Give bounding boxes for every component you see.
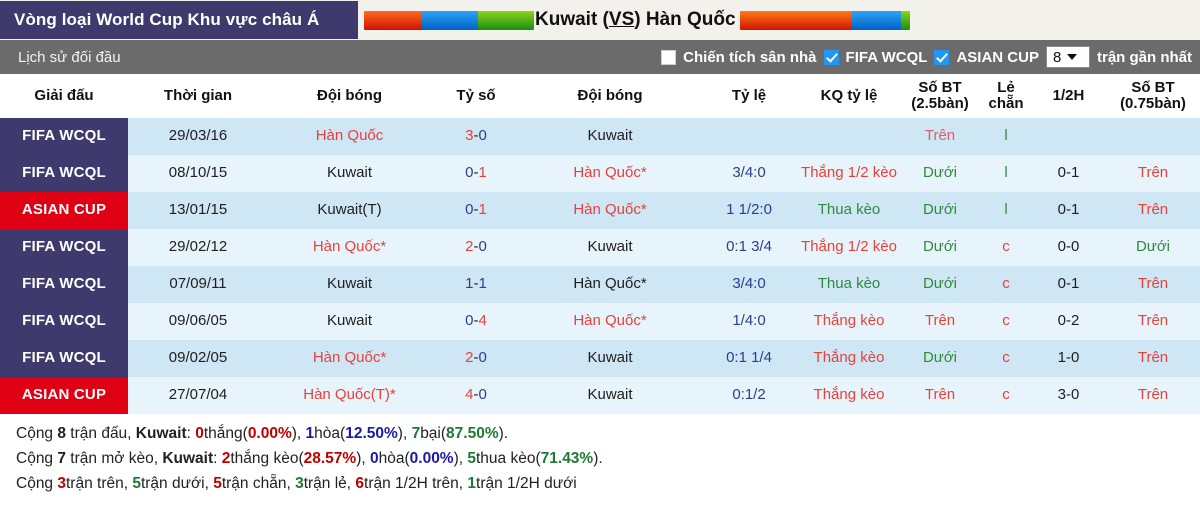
score-away: 4 <box>479 312 487 329</box>
match-count-value: 8 <box>1053 49 1061 66</box>
score-home: 0 <box>465 312 473 329</box>
score-home: 4 <box>465 386 473 403</box>
score-away: 1 <box>479 164 487 181</box>
summary-text: trận mở kèo, <box>66 450 162 467</box>
form-bar-segment-red <box>364 11 422 30</box>
cell-score: 0-4 <box>431 303 521 340</box>
cell-score: 2-0 <box>431 229 521 266</box>
cell-score: 0-1 <box>431 155 521 192</box>
cell-total-075: Trên <box>1106 340 1200 377</box>
table-row[interactable]: FIFA WCQL08/10/15Kuwait0-1Hàn Quốc*3/4:0… <box>0 155 1200 192</box>
cell-odd-even: c <box>981 229 1031 266</box>
cell-home-team: Kuwait <box>268 303 431 340</box>
summary-text: trận trên, <box>66 475 132 492</box>
summary-draws-count: 1 <box>306 425 315 442</box>
summary-text: trận chẵn, <box>222 475 295 492</box>
cell-half-time: 0-1 <box>1031 155 1106 192</box>
cell-odds: 0:1/2 <box>699 377 799 414</box>
cell-odds-result: Thắng kèo <box>799 303 899 340</box>
cell-odd-even: c <box>981 303 1031 340</box>
summary-hcp-draws-pct: 0.00% <box>410 450 454 467</box>
cell-score: 4-0 <box>431 377 521 414</box>
summary-line-total-matches: Cộng 8 trận đấu, Kuwait: 0thắng(0.00%), … <box>16 421 1200 446</box>
score-home: 2 <box>465 238 473 255</box>
cell-odds-result <box>799 118 899 155</box>
summary-wins-pct: 0.00% <box>248 425 292 442</box>
summary-text: bại( <box>420 425 446 442</box>
cell-total-25: Dưới <box>899 340 981 377</box>
summary-text: ), <box>398 425 412 442</box>
table-row[interactable]: FIFA WCQL29/03/16Hàn Quốc3-0KuwaitTrênl <box>0 118 1200 155</box>
cell-total-075: Dưới <box>1106 229 1200 266</box>
column-header-odds-result: KQ tỷ lệ <box>799 74 899 118</box>
summary-text: ). <box>499 425 508 442</box>
cell-odds: 1/4:0 <box>699 303 799 340</box>
cell-date: 09/06/05 <box>128 303 268 340</box>
cell-odds: 3/4:0 <box>699 155 799 192</box>
score-away: 1 <box>479 275 487 292</box>
column-header-score: Tỷ số <box>431 74 521 118</box>
cell-date: 08/10/15 <box>128 155 268 192</box>
table-header-row: Giải đấu Thời gian Đội bóng Tỷ số Đội bó… <box>0 74 1200 118</box>
summary-under-count: 5 <box>132 475 141 492</box>
cell-total-25: Trên <box>899 118 981 155</box>
summary-text: : <box>187 425 196 442</box>
cell-away-team: Kuwait <box>521 229 699 266</box>
summary-losses-pct: 87.50% <box>446 425 499 442</box>
cell-away-team: Kuwait <box>521 118 699 155</box>
head-to-head-table: Giải đấu Thời gian Đội bóng Tỷ số Đội bó… <box>0 74 1200 414</box>
summary-text: : <box>213 450 222 467</box>
cell-odds: 1 1/2:0 <box>699 192 799 229</box>
cell-score: 1-1 <box>431 266 521 303</box>
score-away: 1 <box>479 201 487 218</box>
summary-text: hòa( <box>379 450 410 467</box>
cell-home-team: Kuwait <box>268 266 431 303</box>
cell-half-time: 0-1 <box>1031 192 1106 229</box>
summary-half-under-count: 1 <box>467 475 476 492</box>
cell-odds-result: Thua kèo <box>799 192 899 229</box>
summary-text: ), <box>292 425 306 442</box>
cell-odds-result: Thắng kèo <box>799 377 899 414</box>
cell-date: 13/01/15 <box>128 192 268 229</box>
form-color-bar-away <box>740 11 910 30</box>
cell-total-075 <box>1106 118 1200 155</box>
cell-away-team: Kuwait <box>521 377 699 414</box>
summary-text: trận đấu, <box>66 425 136 442</box>
cell-odds <box>699 118 799 155</box>
column-header-away-team: Đội bóng <box>521 74 699 118</box>
cell-date: 29/03/16 <box>128 118 268 155</box>
summary-even-count: 5 <box>213 475 222 492</box>
head-to-head-page: Vòng loại World Cup Khu vực châu Á Kuwai… <box>0 0 1200 530</box>
summary-over-count: 3 <box>57 475 66 492</box>
cell-odd-even: l <box>981 192 1031 229</box>
cell-score: 3-0 <box>431 118 521 155</box>
recent-matches-label: trận gần nhất <box>1097 49 1192 66</box>
column-header-odds: Tỷ lệ <box>699 74 799 118</box>
home-record-label[interactable]: Chiến tích sân nhà <box>683 49 816 66</box>
summary-text: trận 1/2H trên, <box>364 475 467 492</box>
top-header-bar: Vòng loại World Cup Khu vực châu Á Kuwai… <box>0 0 1200 40</box>
cell-home-team: Kuwait(T) <box>268 192 431 229</box>
cell-total-25: Dưới <box>899 192 981 229</box>
asian-cup-checkbox[interactable] <box>934 50 949 65</box>
cell-half-time: 0-2 <box>1031 303 1106 340</box>
score-home: 1 <box>465 275 473 292</box>
fifa-wcql-checkbox[interactable] <box>824 50 839 65</box>
form-bar-segment-blue <box>852 11 901 30</box>
cell-competition: FIFA WCQL <box>0 266 128 303</box>
summary-total-matches: 8 <box>57 425 66 442</box>
summary-odd-count: 3 <box>295 475 304 492</box>
table-row[interactable]: FIFA WCQL09/06/05Kuwait0-4Hàn Quốc*1/4:0… <box>0 303 1200 340</box>
score-away: 0 <box>479 127 487 144</box>
cell-odd-even: c <box>981 377 1031 414</box>
summary-text: thua kèo( <box>476 450 541 467</box>
cell-date: 09/02/05 <box>128 340 268 377</box>
league-badge-label: Vòng loại World Cup Khu vực châu Á <box>14 10 319 30</box>
cell-score: 2-0 <box>431 340 521 377</box>
summary-text: hòa( <box>314 425 345 442</box>
summary-prefix: Cộng <box>16 425 57 442</box>
cell-home-team: Kuwait <box>268 155 431 192</box>
summary-text: thắng( <box>204 425 248 442</box>
summary-text: ), <box>454 450 468 467</box>
cell-odds-result: Thắng 1/2 kèo <box>799 229 899 266</box>
cell-odds-result: Thua kèo <box>799 266 899 303</box>
score-away: 0 <box>479 349 487 366</box>
cell-total-075: Trên <box>1106 192 1200 229</box>
cell-total-25: Dưới <box>899 229 981 266</box>
column-header-total-075: Số BT (0.75bàn) <box>1106 74 1200 118</box>
score-away: 0 <box>479 386 487 403</box>
summary-team-name: Kuwait <box>136 425 187 442</box>
summary-text: trận 1/2H dưới <box>476 475 577 492</box>
cell-date: 07/09/11 <box>128 266 268 303</box>
summary-handicap-total: 7 <box>57 450 66 467</box>
cell-date: 29/02/12 <box>128 229 268 266</box>
toolbar-title: Lịch sử đối đầu <box>18 49 121 66</box>
vs-label: VS <box>609 9 634 30</box>
cell-competition: ASIAN CUP <box>0 377 128 414</box>
cell-total-075: Trên <box>1106 303 1200 340</box>
summary-hcp-wins-pct: 28.57% <box>304 450 357 467</box>
cell-competition: FIFA WCQL <box>0 155 128 192</box>
summary-text: trận dưới, <box>141 475 213 492</box>
cell-half-time: 0-1 <box>1031 266 1106 303</box>
table-row[interactable]: FIFA WCQL29/02/12Hàn Quốc*2-0Kuwait0:1 3… <box>0 229 1200 266</box>
league-badge: Vòng loại World Cup Khu vực châu Á <box>0 1 358 39</box>
table-row[interactable]: FIFA WCQL09/02/05Hàn Quốc*2-0Kuwait0:1 1… <box>0 340 1200 377</box>
summary-text: thắng kèo( <box>230 450 303 467</box>
summary-team-name: Kuwait <box>162 450 213 467</box>
cell-odd-even: l <box>981 155 1031 192</box>
cell-odd-even: c <box>981 266 1031 303</box>
match-count-select[interactable]: 8 <box>1046 46 1090 68</box>
column-header-time: Thời gian <box>128 74 268 118</box>
cell-total-075: Trên <box>1106 377 1200 414</box>
asian-cup-label[interactable]: ASIAN CUP <box>956 49 1039 66</box>
cell-odds-result: Thắng 1/2 kèo <box>799 155 899 192</box>
cell-total-25: Dưới <box>899 155 981 192</box>
cell-total-075: Trên <box>1106 266 1200 303</box>
cell-total-25: Trên <box>899 377 981 414</box>
form-bar-segment-green <box>901 11 910 30</box>
summary-wins-count: 0 <box>195 425 204 442</box>
score-home: 0 <box>465 201 473 218</box>
summary-text: ), <box>356 450 370 467</box>
score-home: 2 <box>465 349 473 366</box>
summary-draws-pct: 12.50% <box>345 425 398 442</box>
vs-close-paren: ) <box>634 9 646 30</box>
cell-away-team: Kuwait <box>521 340 699 377</box>
summary-line-handicap: Cộng 7 trận mở kèo, Kuwait: 2thắng kèo(2… <box>16 446 1200 471</box>
cell-competition: FIFA WCQL <box>0 229 128 266</box>
table-row[interactable]: FIFA WCQL07/09/11Kuwait1-1Hàn Quốc*3/4:0… <box>0 266 1200 303</box>
column-header-total-25: Số BT (2.5bàn) <box>899 74 981 118</box>
cell-competition: FIFA WCQL <box>0 118 128 155</box>
cell-date: 27/07/04 <box>128 377 268 414</box>
column-header-odd-even: Lẻ chẵn <box>981 74 1031 118</box>
match-away-team: Hàn Quốc <box>646 9 736 30</box>
table-row[interactable]: ASIAN CUP27/07/04Hàn Quốc(T)*4-0Kuwait0:… <box>0 377 1200 414</box>
cell-home-team: Hàn Quốc* <box>268 229 431 266</box>
column-header-competition: Giải đấu <box>0 74 128 118</box>
form-bar-segment-green <box>478 11 534 30</box>
cell-competition: FIFA WCQL <box>0 340 128 377</box>
summary-hcp-losses-count: 5 <box>467 450 476 467</box>
cell-odds: 0:1 1/4 <box>699 340 799 377</box>
table-body: FIFA WCQL29/03/16Hàn Quốc3-0KuwaitTrênlF… <box>0 118 1200 414</box>
summary-text: trận lẻ, <box>304 475 356 492</box>
home-record-checkbox[interactable] <box>661 50 676 65</box>
score-home: 3 <box>465 127 473 144</box>
match-title-area: Kuwait (VS) Hàn Quốc <box>535 0 910 40</box>
cell-half-time: 0-0 <box>1031 229 1106 266</box>
cell-competition: ASIAN CUP <box>0 192 128 229</box>
column-header-home-team: Đội bóng <box>268 74 431 118</box>
summary-losses-count: 7 <box>412 425 421 442</box>
cell-half-time <box>1031 118 1106 155</box>
vs-open-paren: ( <box>597 9 609 30</box>
match-title: Kuwait (VS) Hàn Quốc <box>535 9 736 31</box>
cell-away-team: Hàn Quốc* <box>521 155 699 192</box>
summary-half-over-count: 6 <box>355 475 364 492</box>
column-header-half-time: 1/2H <box>1031 74 1106 118</box>
cell-total-075: Trên <box>1106 155 1200 192</box>
summary-hcp-draws-count: 0 <box>370 450 379 467</box>
cell-home-team: Hàn Quốc <box>268 118 431 155</box>
summary-prefix: Cộng <box>16 475 57 492</box>
score-away: 0 <box>479 238 487 255</box>
summary-hcp-losses-pct: 71.43% <box>541 450 594 467</box>
cell-away-team: Hàn Quốc* <box>521 303 699 340</box>
summary-block: Cộng 8 trận đấu, Kuwait: 0thắng(0.00%), … <box>0 414 1200 496</box>
fifa-wcql-label[interactable]: FIFA WCQL <box>846 49 928 66</box>
score-home: 0 <box>465 164 473 181</box>
summary-text: ). <box>593 450 602 467</box>
cell-home-team: Hàn Quốc* <box>268 340 431 377</box>
cell-odds: 3/4:0 <box>699 266 799 303</box>
cell-competition: FIFA WCQL <box>0 303 128 340</box>
chevron-down-icon <box>1067 54 1077 60</box>
filter-toolbar: Lịch sử đối đầu Chiến tích sân nhà FIFA … <box>0 40 1200 74</box>
cell-home-team: Hàn Quốc(T)* <box>268 377 431 414</box>
form-bar-segment-blue <box>422 11 478 30</box>
cell-odds-result: Thắng kèo <box>799 340 899 377</box>
table-row[interactable]: ASIAN CUP13/01/15Kuwait(T)0-1Hàn Quốc*1 … <box>0 192 1200 229</box>
form-color-bar-home <box>364 11 534 30</box>
cell-away-team: Hàn Quốc* <box>521 266 699 303</box>
cell-half-time: 1-0 <box>1031 340 1106 377</box>
cell-odds: 0:1 3/4 <box>699 229 799 266</box>
cell-odd-even: l <box>981 118 1031 155</box>
summary-line-totals: Cộng 3trận trên, 5trận dưới, 5trận chẵn,… <box>16 471 1200 496</box>
summary-prefix: Cộng <box>16 450 57 467</box>
cell-score: 0-1 <box>431 192 521 229</box>
cell-away-team: Hàn Quốc* <box>521 192 699 229</box>
cell-total-25: Dưới <box>899 266 981 303</box>
toolbar-controls: Chiến tích sân nhà FIFA WCQL ASIAN CUP 8… <box>661 46 1192 68</box>
cell-total-25: Trên <box>899 303 981 340</box>
match-home-team: Kuwait <box>535 9 597 30</box>
cell-odd-even: c <box>981 340 1031 377</box>
cell-half-time: 3-0 <box>1031 377 1106 414</box>
form-bar-segment-red <box>740 11 852 30</box>
